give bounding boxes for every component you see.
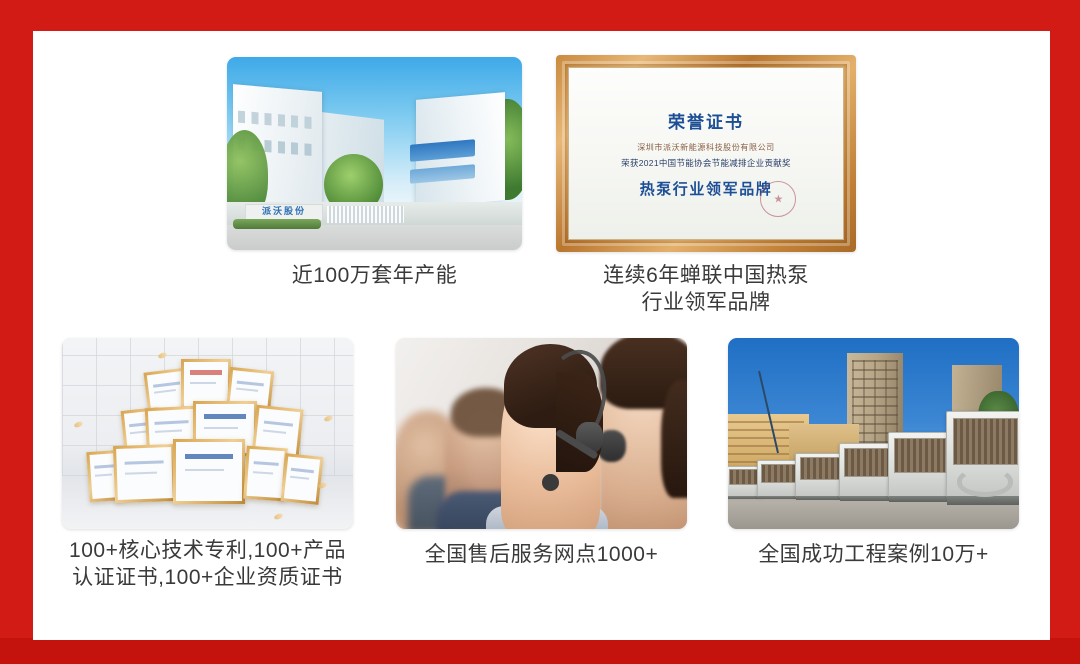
certificate-highlight: 热泵行业领军品牌: [640, 178, 773, 199]
headset-mic-tip-icon: [542, 474, 559, 491]
heat-pump-unit: [888, 432, 952, 497]
hedge-row: [233, 219, 322, 229]
heat-pump-unit: [795, 453, 844, 497]
slide-root: 派沃股份 近100万套年产能 荣誉证书 深圳市派沃新能源科技股份有限公司 荣获2…: [0, 0, 1080, 664]
honor-certificate-photo[interactable]: 荣誉证书 深圳市派沃新能源科技股份有限公司 荣获2021中国节能协会节能减排企业…: [556, 55, 856, 252]
certificate-title: 荣誉证书: [668, 108, 744, 133]
factory-sign-text: 派沃股份: [246, 205, 323, 218]
caption-call-center: 全国售后服务网点1000+: [396, 542, 687, 569]
white-content-panel: 派沃股份 近100万套年产能 荣誉证书 深圳市派沃新能源科技股份有限公司 荣获2…: [33, 31, 1050, 640]
heat-pump-unit: [839, 443, 894, 496]
connection-pipe: [957, 467, 1014, 496]
caption-heat-pumps: 全国成功工程案例10万+: [728, 542, 1019, 569]
caption-factory: 近100万套年产能: [227, 263, 522, 290]
certificate-award-line: 荣获2021中国节能协会节能减排企业贡献奖: [621, 157, 791, 169]
certificate-frame-item: [113, 444, 176, 503]
caption-certificate: 连续6年蝉联中国热泵 行业领军品牌: [556, 263, 856, 317]
certificate-company: 深圳市派沃新能源科技股份有限公司: [637, 142, 775, 153]
factory-exterior-photo[interactable]: 派沃股份: [227, 57, 522, 250]
official-seal-icon: [760, 181, 796, 217]
certificates-display-photo[interactable]: [62, 338, 353, 529]
heat-pump-units-installation-photo[interactable]: [728, 338, 1019, 529]
certificate-paper: 荣誉证书 深圳市派沃新能源科技股份有限公司 荣获2021中国节能协会节能减排企业…: [568, 67, 844, 240]
certificate-frame-item: [173, 439, 246, 504]
call-center-agents-photo[interactable]: [396, 338, 687, 529]
foreground-agent-right-hair-side: [661, 380, 687, 498]
factory-gate: [327, 206, 404, 223]
caption-certificate-wall: 100+核心技术专利,100+产品 认证证书,100+企业资质证书: [62, 538, 353, 592]
certificate-frame-item: [281, 453, 324, 504]
